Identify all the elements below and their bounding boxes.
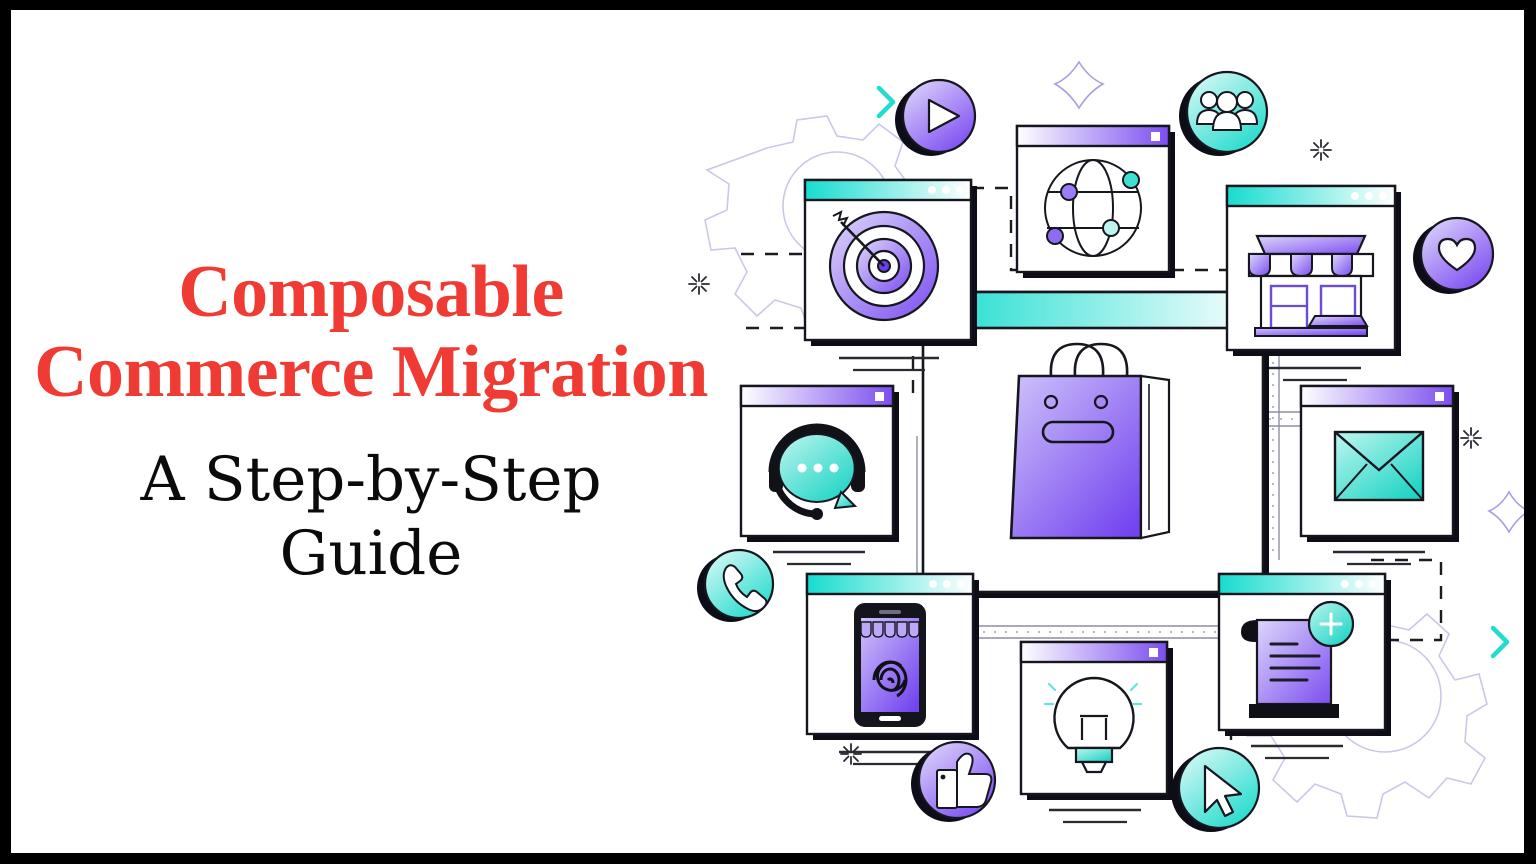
storefront-icon [1249, 236, 1373, 336]
card-titlebar [1301, 386, 1453, 406]
card-titlebar [741, 386, 893, 406]
smartphone-at-fingerprint-icon [855, 604, 925, 726]
storefront-card[interactable] [1227, 186, 1401, 380]
card-caption-lines [773, 552, 865, 564]
document-card[interactable] [1219, 574, 1391, 758]
window-square-button[interactable] [1149, 648, 1158, 657]
play-badge[interactable] [895, 80, 975, 156]
mobile-commerce-card[interactable] [807, 574, 979, 764]
window-square-button[interactable] [1435, 392, 1444, 401]
audience-badge[interactable] [1179, 72, 1267, 156]
targeting-card[interactable] [805, 180, 977, 370]
page-title-line-2: Commerce Migration [11, 330, 731, 414]
banner-frame: Composable Commerce Migration A Step-by-… [0, 0, 1536, 864]
users-group-icon [1197, 92, 1257, 130]
card-titlebar [1021, 642, 1167, 662]
card-caption-lines [1049, 810, 1141, 822]
page-title-line-1: Composable [11, 250, 731, 334]
card-caption-lines [1269, 368, 1361, 380]
composable-commerce-illustration [671, 40, 1524, 840]
card-caption-lines [1333, 552, 1425, 564]
banner-canvas: Composable Commerce Migration A Step-by-… [11, 10, 1524, 853]
envelope-icon [1335, 432, 1423, 500]
like-badge[interactable] [911, 742, 995, 822]
window-dots [1341, 580, 1377, 588]
favorite-badge[interactable] [1413, 218, 1493, 294]
cursor-badge[interactable] [1171, 748, 1259, 832]
window-dots [929, 580, 965, 588]
network-card[interactable] [1017, 126, 1175, 278]
window-dots [1351, 192, 1387, 200]
headline-block: Composable Commerce Migration A Step-by-… [11, 250, 731, 598]
card-titlebar [1017, 126, 1169, 146]
support-chat-card[interactable] [741, 386, 899, 564]
email-card[interactable] [1301, 386, 1459, 564]
idea-card[interactable] [1021, 642, 1173, 822]
window-square-button[interactable] [875, 392, 884, 401]
page-subtitle-line-2: Guide [11, 510, 731, 598]
window-dots [928, 186, 964, 194]
window-square-button[interactable] [1151, 132, 1160, 141]
target-dartboard-icon [830, 212, 938, 320]
call-badge[interactable] [697, 550, 773, 622]
card-caption-lines [1251, 746, 1343, 758]
